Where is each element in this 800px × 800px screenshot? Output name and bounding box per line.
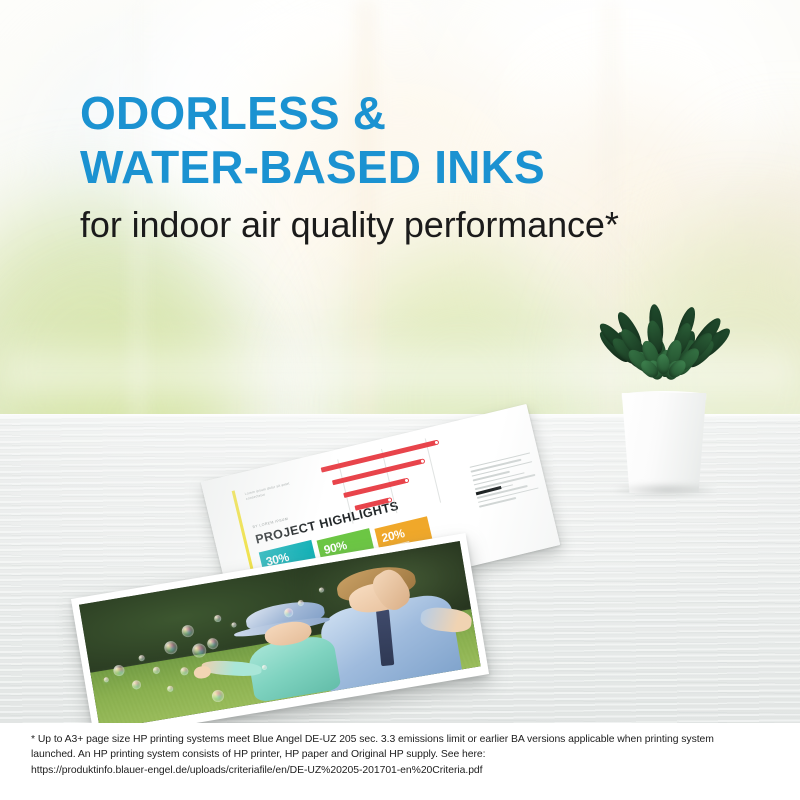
footnote-area: * Up to A3+ page size HP printing system… bbox=[0, 723, 800, 800]
footnote-line-2: launched. An HP printing system consists… bbox=[31, 747, 776, 762]
subheadline: for indoor air quality performance* bbox=[80, 202, 780, 248]
footnote-line-3: https://produktinfo.blauer-engel.de/uplo… bbox=[31, 763, 776, 778]
footnote-line-1: * Up to A3+ page size HP printing system… bbox=[31, 732, 776, 747]
headline-line-2: WATER-BASED INKS bbox=[80, 140, 780, 194]
headline-block: ODORLESS & WATER-BASED INKS for indoor a… bbox=[80, 86, 780, 248]
headline-line-1: ODORLESS & bbox=[80, 86, 780, 140]
footnote-text: * Up to A3+ page size HP printing system… bbox=[31, 732, 776, 778]
pot-body bbox=[616, 393, 712, 493]
photo-child bbox=[237, 595, 351, 702]
pot-shadow bbox=[610, 483, 720, 497]
marketing-image: ODORLESS & WATER-BASED INKS for indoor a… bbox=[0, 0, 800, 800]
potted-succulent bbox=[600, 305, 730, 495]
soap-bubble bbox=[152, 666, 160, 674]
